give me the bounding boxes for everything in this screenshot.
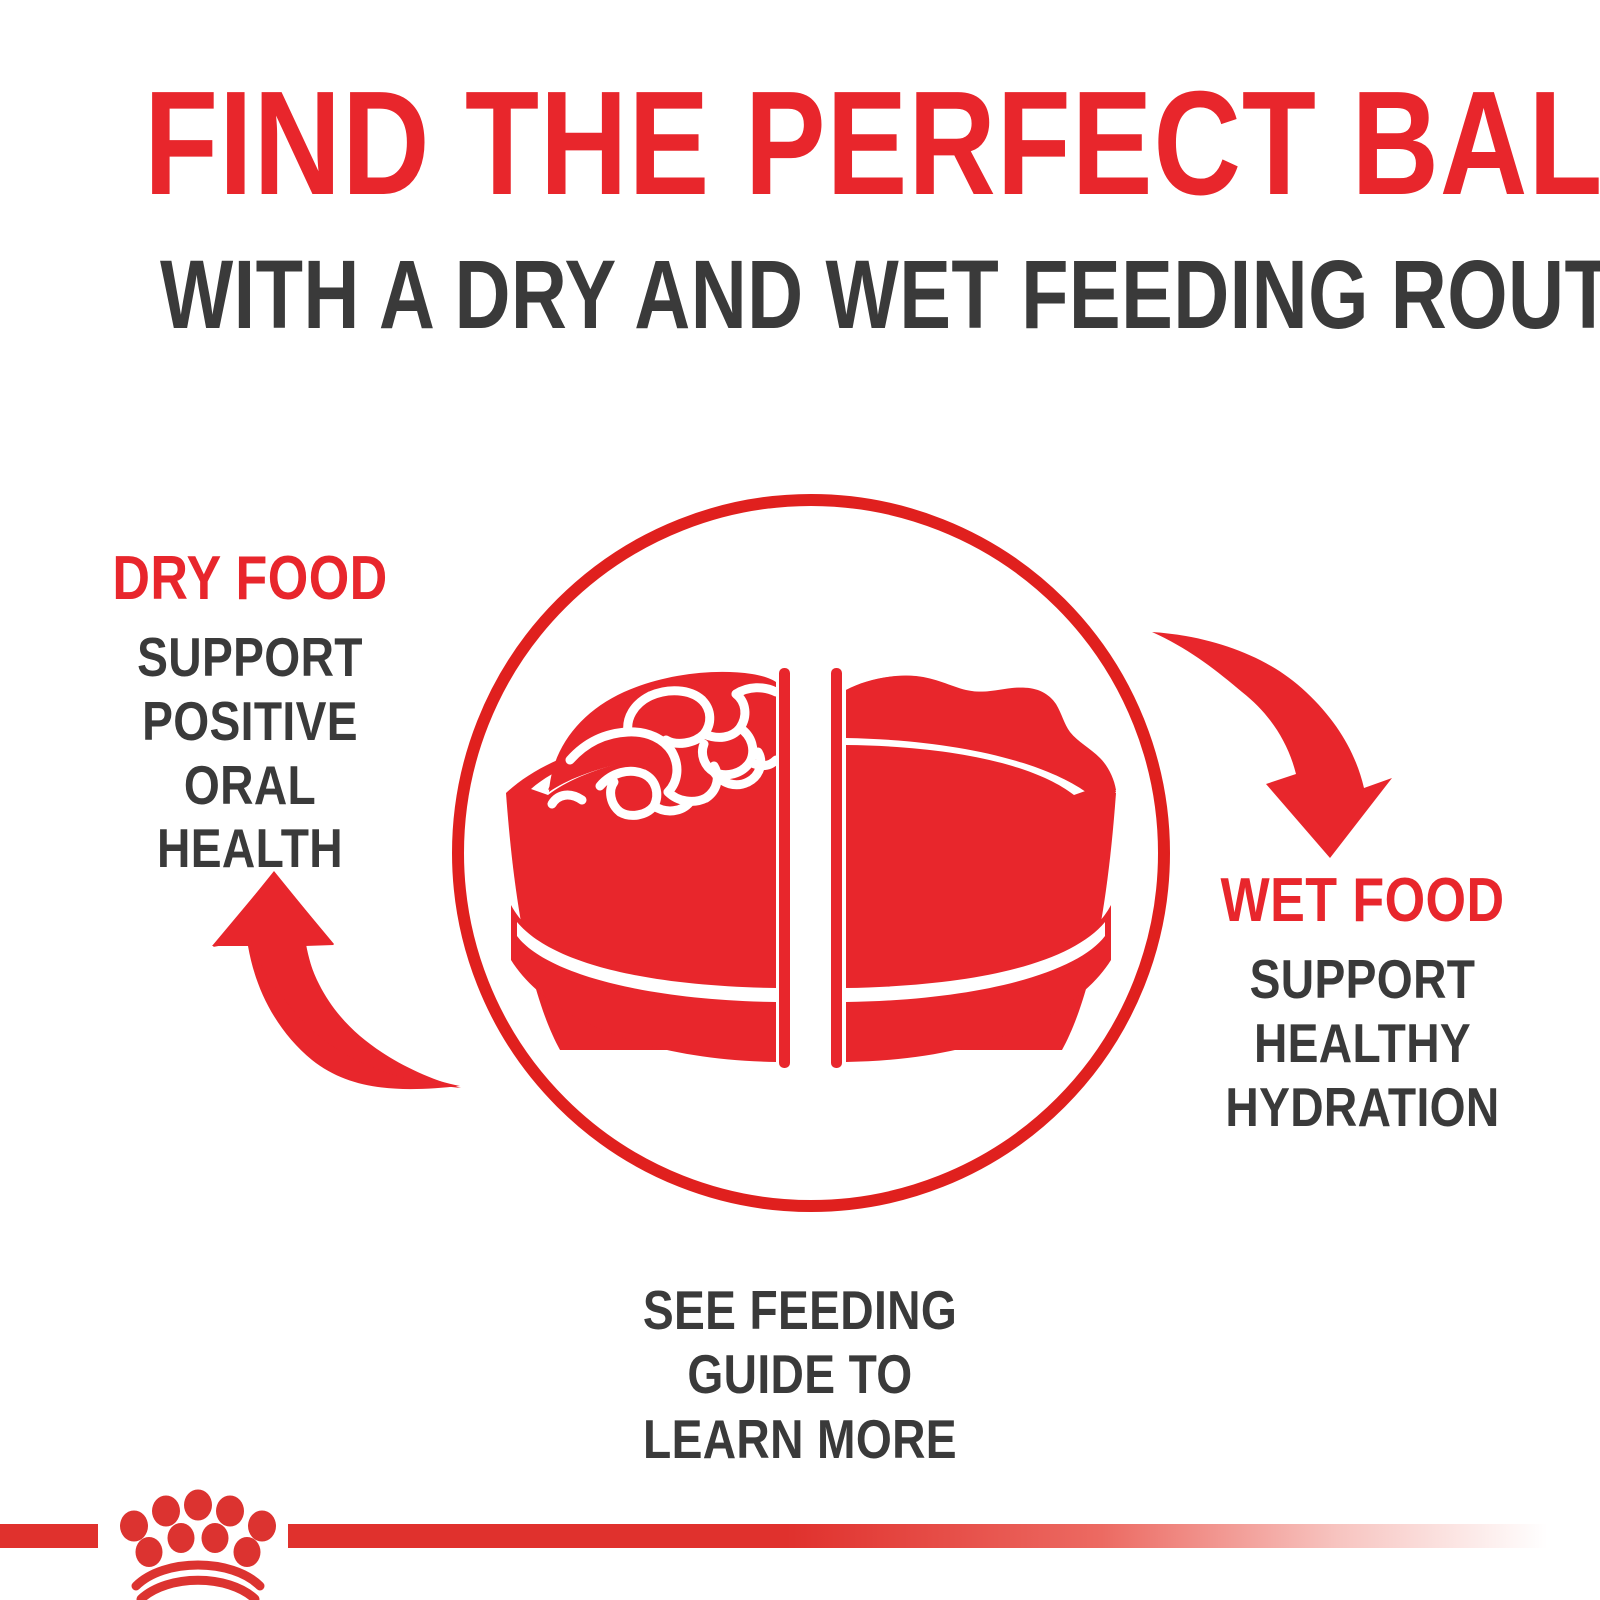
circle-outline-icon [458,500,1164,1206]
curved-arrow-down-right-icon [1152,632,1392,858]
dry-food-line-3: HEALTH [157,817,343,879]
caption-line-1: SEE FEEDING [548,1278,1052,1342]
bowl-right-half [846,676,1116,1050]
header-block: FIND THE PERFECT BALANCE WITH A DRY AND … [0,70,1600,343]
bowl-base [511,905,1111,1062]
dry-food-description: SUPPORT POSITIVE ORAL HEALTH [74,626,427,881]
feeding-guide-caption: SEE FEEDING GUIDE TO LEARN MORE [500,1278,1100,1471]
dry-food-title: DRY FOOD [74,548,427,610]
curved-arrow-up-left-icon [212,871,461,1089]
caption-line-3: LEARN MORE [548,1407,1052,1471]
wet-food-description: SUPPORT HEALTHY HYDRATION [1171,948,1553,1139]
dry-food-line-2: POSITIVE ORAL [142,690,358,816]
dry-food-label: DRY FOOD SUPPORT POSITIVE ORAL HEALTH [40,548,460,881]
bowl-left-half [506,672,776,1050]
caption-line-2: GUIDE TO [548,1342,1052,1406]
vertical-split-divider-icon [779,668,842,1068]
footer-rule-left [0,1524,98,1548]
kibble-pieces-icon [552,688,776,816]
page-title: FIND THE PERFECT BALANCE [144,70,1456,218]
poster-canvas: FIND THE PERFECT BALANCE WITH A DRY AND … [0,0,1600,1600]
split-pet-food-bowl-icon [506,660,1116,1080]
dry-food-line-1: SUPPORT [137,626,363,688]
wet-food-line-2: HYDRATION [1225,1076,1499,1138]
royal-canin-crown-icon [108,1482,288,1600]
wet-food-label: WET FOOD SUPPORT HEALTHY HYDRATION [1135,870,1590,1139]
footer [0,1480,1600,1600]
footer-rule-right [288,1524,1600,1548]
wet-food-mound-icon [846,676,1116,790]
wet-food-line-1: SUPPORT HEALTHY [1250,948,1476,1074]
wet-food-title: WET FOOD [1171,870,1553,932]
page-subtitle: WITH A DRY AND WET FEEDING ROUTINE [160,246,1440,343]
